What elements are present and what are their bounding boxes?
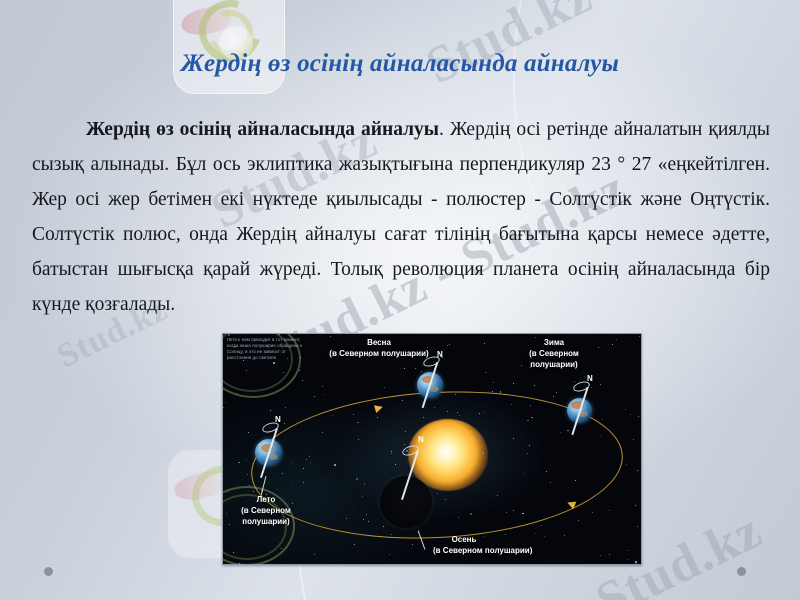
label-summer-line1: Лето — [225, 494, 307, 505]
decorative-dot-right — [737, 567, 746, 576]
label-autumn-line2: (в Северном полушарии) — [433, 545, 563, 556]
label-winter: Зима (в Северном полушарии) — [511, 337, 597, 370]
label-autumn-line1: Осень — [433, 534, 495, 545]
label-summer-line2: (в Северном — [225, 505, 307, 516]
body-lead-phrase: Жердің өз осінің айналасында айналуы — [86, 119, 439, 140]
page-title: Жердің өз осінің айналасында айналуы — [0, 50, 800, 78]
north-pole-label: N — [418, 435, 424, 444]
body-paragraph: Жердің өз осінің айналасында айналуы. Же… — [32, 112, 770, 322]
decorative-dot-left — [44, 567, 53, 576]
label-winter-line2: (в Северном — [511, 348, 597, 359]
slide-canvas: Stud.kz Stud.kz Stud.kz - Stud.kz Stud.k… — [0, 0, 800, 600]
label-autumn: Осень (в Северном полушарии) — [433, 534, 563, 556]
body-rest-text: . Жердің осі ретінде айналатын қиялды сы… — [32, 119, 770, 315]
label-spring: Весна (в Северном полушарии) — [309, 337, 449, 359]
label-winter-line1: Зима — [511, 337, 597, 348]
watermark-logo-icon — [173, 0, 285, 94]
label-summer-line3: полушарии) — [225, 516, 307, 527]
label-spring-line2: (в Северном полушарии) — [309, 348, 449, 359]
label-spring-line1: Весна — [309, 337, 449, 348]
label-winter-line3: полушарии) — [511, 359, 597, 370]
north-pole-label: N — [275, 415, 281, 424]
label-summer: Лето (в Северном полушарии) — [225, 494, 307, 527]
north-pole-label: N — [587, 374, 593, 383]
watermark-text: Stud.kz — [417, 0, 601, 96]
earth-seasons-diagram: Лето к нам приходит в тот момент, когда … — [222, 333, 642, 565]
diagram-note: Лето к нам приходит в тот момент, когда … — [227, 337, 305, 361]
